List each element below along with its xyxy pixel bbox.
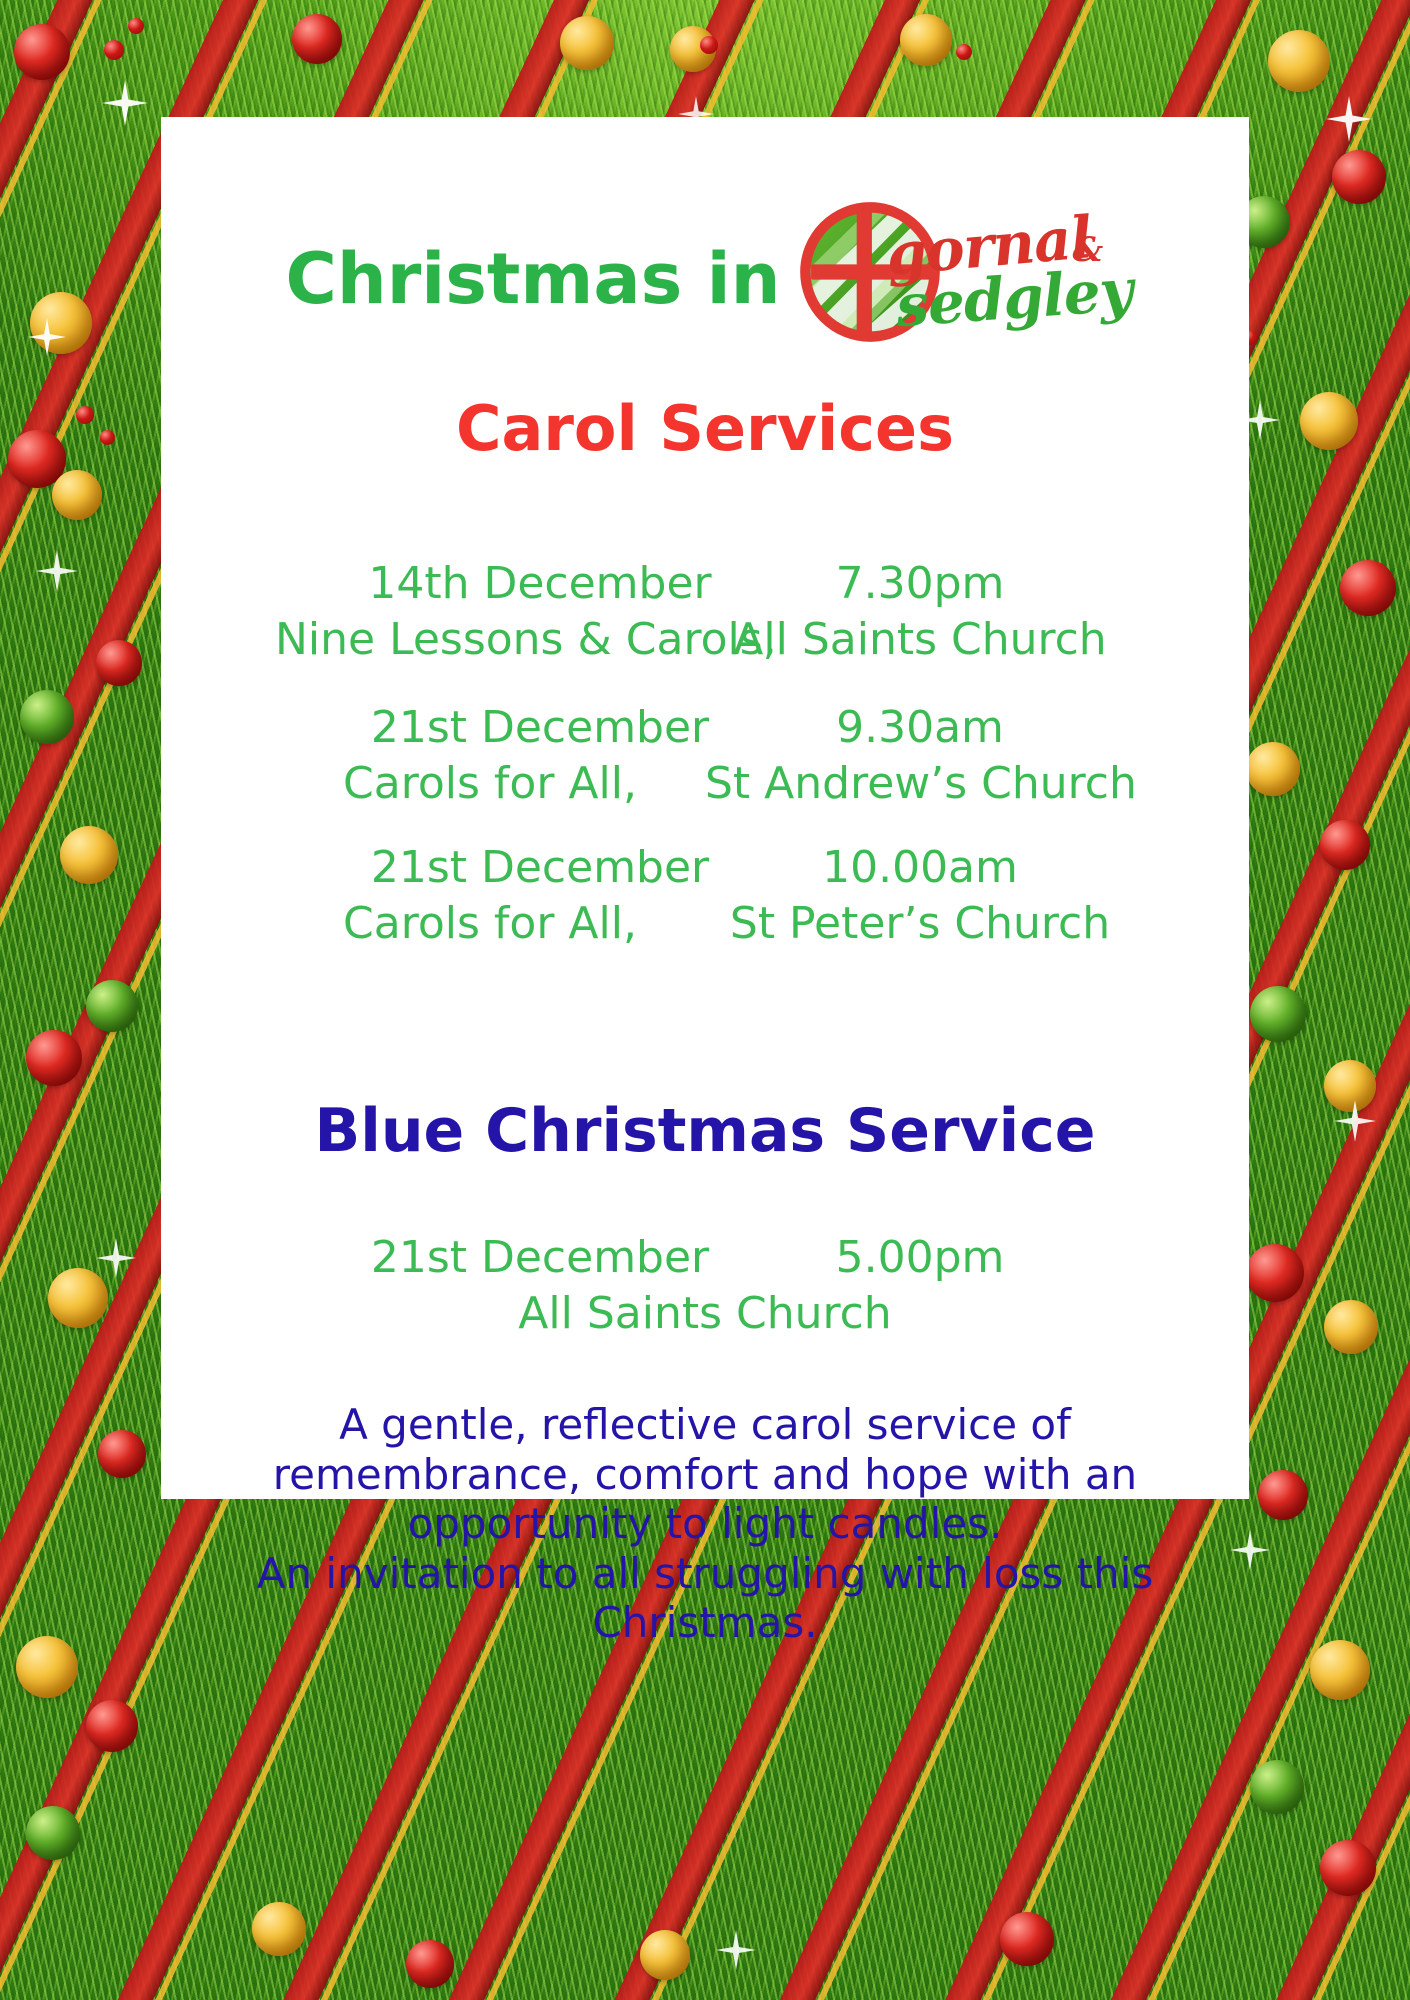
service-entry: 14th December 7.30pm Nine Lessons & Caro… xyxy=(162,556,1248,669)
blurb-line: remembrance, comfort and hope with an xyxy=(200,1450,1210,1500)
service-name: Nine Lessons & Carols, xyxy=(275,612,705,668)
service-time: 5.00pm xyxy=(755,1230,1085,1286)
service-time: 10.00am xyxy=(755,840,1085,896)
blurb-line: opportunity to light candles. xyxy=(200,1499,1210,1549)
service-time: 7.30pm xyxy=(755,556,1085,612)
gornal-sedgley-logo: gornal & sedgley xyxy=(794,196,1124,361)
service-name: Carols for All, xyxy=(275,896,705,952)
christmas-poster: Christmas in xyxy=(0,0,1410,2000)
service-place: All Saints Church xyxy=(705,612,1135,668)
service-place: St Peter’s Church xyxy=(705,896,1135,952)
page-title: Christmas in xyxy=(286,238,781,320)
blue-christmas-description: A gentle, reflective carol service of re… xyxy=(200,1400,1210,1648)
blurb-line: Christmas. xyxy=(200,1598,1210,1648)
blurb-line: A gentle, reflective carol service of xyxy=(200,1400,1210,1450)
service-place: All Saints Church xyxy=(325,1286,1085,1342)
service-entry: 21st December 10.00am Carols for All, St… xyxy=(162,840,1248,953)
service-place: St Andrew’s Church xyxy=(705,756,1135,812)
service-date: 21st December xyxy=(325,700,755,756)
poster-title-row: Christmas in xyxy=(162,196,1248,361)
carol-services-heading: Carol Services xyxy=(162,392,1248,465)
service-entry: 21st December 9.30am Carols for All, St … xyxy=(162,700,1248,813)
logo-wordmark: gornal & sedgley xyxy=(886,212,1126,342)
blue-christmas-heading: Blue Christmas Service xyxy=(162,1096,1248,1166)
service-date: 14th December xyxy=(325,556,755,612)
service-entry: 21st December 5.00pm All Saints Church xyxy=(162,1230,1248,1343)
service-date: 21st December xyxy=(325,840,755,896)
service-time: 9.30am xyxy=(755,700,1085,756)
poster-content: Christmas in xyxy=(0,0,1410,2000)
blurb-line: An invitation to all struggling with los… xyxy=(200,1549,1210,1599)
service-name: Carols for All, xyxy=(275,756,705,812)
service-date: 21st December xyxy=(325,1230,755,1286)
